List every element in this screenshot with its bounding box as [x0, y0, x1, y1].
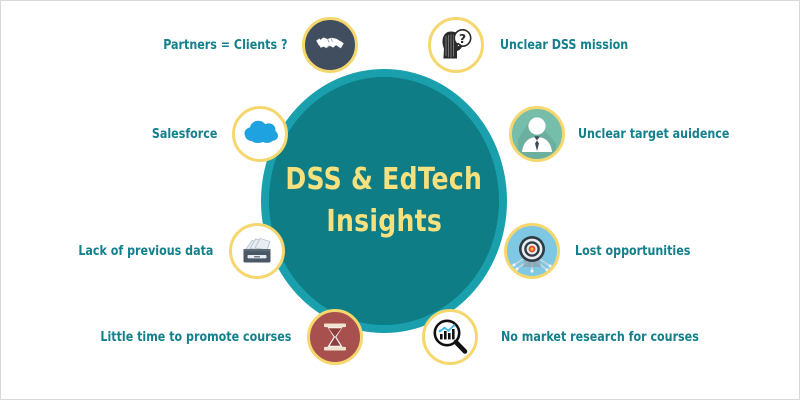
- svg-text:?: ?: [459, 31, 466, 46]
- node-lack-of-previous-data[interactable]: [229, 223, 285, 279]
- hub-disc: [269, 77, 499, 325]
- node-unclear-dss-mission[interactable]: ?: [428, 17, 484, 73]
- infographic-canvas: DSS & EdTech Insights Partners = Clients…: [0, 0, 800, 400]
- node-unclear-target-audience[interactable]: [509, 106, 565, 162]
- label-partners-clients: Partners = Clients ?: [16, 39, 295, 52]
- label-lack-of-previous-data: Lack of previous data: [12, 245, 221, 258]
- label-unclear-target-audience: Unclear target auidence: [578, 128, 729, 141]
- label-unclear-dss-mission: Unclear DSS mission: [500, 39, 628, 52]
- label-no-market-research: No market research for courses: [501, 331, 699, 344]
- label-lost-opportunities: Lost opportunities: [575, 245, 690, 258]
- node-partners-clients[interactable]: [302, 17, 358, 73]
- node-little-time-promote[interactable]: [307, 309, 363, 365]
- target-arrows-icon: [507, 226, 557, 276]
- cloud-icon: [238, 112, 282, 156]
- person-tie-icon: [512, 109, 562, 159]
- magnifier-chart-icon: [430, 317, 470, 357]
- handshake-icon: [313, 28, 347, 62]
- node-lost-opportunities[interactable]: [504, 223, 560, 279]
- label-little-time-promote: Little time to promote courses: [16, 331, 299, 344]
- head-question-icon: ?: [437, 26, 475, 64]
- file-cabinet-icon: [236, 230, 278, 272]
- label-salesforce: Salesforce: [12, 128, 225, 141]
- node-no-market-research[interactable]: [422, 309, 478, 365]
- node-salesforce[interactable]: [232, 106, 288, 162]
- hourglass-icon: [315, 317, 355, 357]
